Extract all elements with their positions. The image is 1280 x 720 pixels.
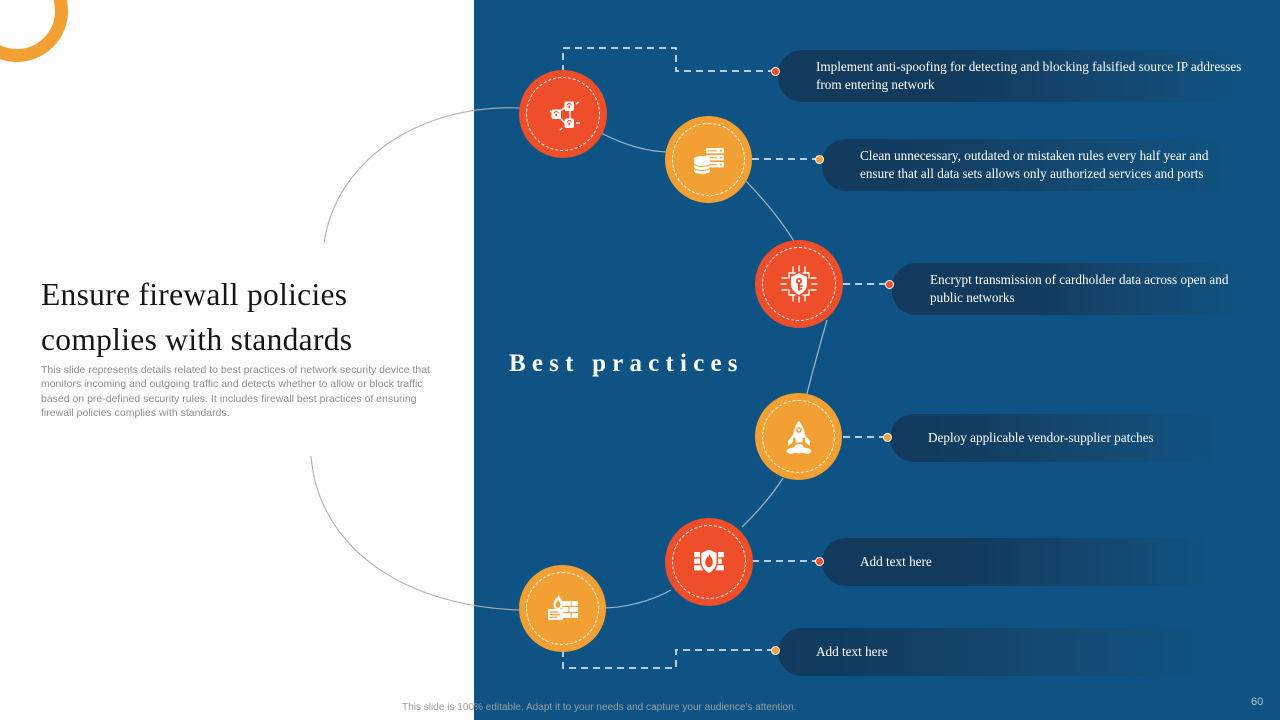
- slide-canvas: Ensure firewall policies complies with s…: [0, 0, 1280, 720]
- diagram-heading: Best practices: [509, 350, 744, 378]
- firewall-shield-flame-icon: [685, 538, 733, 586]
- callout-5[interactable]: Add text here: [822, 538, 1234, 586]
- node-1[interactable]: [519, 70, 607, 158]
- callout-4-text: Deploy applicable vendor-supplier patche…: [928, 429, 1154, 447]
- callout-2-text: Clean unnecessary, outdated or mistaken …: [860, 147, 1246, 183]
- node-5[interactable]: [665, 518, 753, 606]
- page-title-line2: complies with standards: [41, 322, 352, 357]
- callout-3-dot: [885, 280, 894, 289]
- page-description: This slide represents details related to…: [41, 364, 446, 422]
- callout-2[interactable]: Clean unnecessary, outdated or mistaken …: [822, 139, 1262, 191]
- encryption-key-chip-icon: [775, 260, 823, 308]
- callout-3-text: Encrypt transmission of cardholder data …: [930, 271, 1244, 307]
- rocket-launch-icon: [776, 414, 822, 460]
- footer-note: This slide is 100% editable. Adapt it to…: [402, 702, 797, 713]
- callout-1[interactable]: Implement anti-spoofing for detecting an…: [778, 50, 1270, 102]
- node-6[interactable]: [519, 565, 606, 652]
- callout-4-dot: [883, 433, 892, 442]
- decorative-ring-icon: [0, 0, 68, 62]
- database-stack-icon: [686, 137, 732, 183]
- network-lock-nodes-icon: [540, 91, 586, 137]
- callout-2-dot: [815, 155, 824, 164]
- node-3[interactable]: [755, 240, 843, 328]
- firewall-flame-wall-icon: [539, 585, 587, 633]
- callout-6-dot: [771, 646, 780, 655]
- node-2[interactable]: [665, 116, 752, 203]
- callout-5-text: Add text here: [860, 553, 932, 571]
- page-title-line1: Ensure firewall policies: [41, 277, 347, 312]
- callout-3[interactable]: Encrypt transmission of cardholder data …: [892, 263, 1260, 315]
- callout-6-text: Add text here: [816, 643, 888, 661]
- callout-5-dot: [815, 557, 824, 566]
- callout-4[interactable]: Deploy applicable vendor-supplier patche…: [890, 414, 1245, 462]
- callout-6[interactable]: Add text here: [778, 628, 1233, 676]
- callout-1-dot: [771, 67, 780, 76]
- left-panel: Ensure firewall policies complies with s…: [0, 0, 474, 720]
- page-number: 60: [1251, 696, 1263, 708]
- page-title: Ensure firewall policies complies with s…: [41, 272, 451, 362]
- node-4[interactable]: [755, 393, 842, 480]
- callout-1-text: Implement anti-spoofing for detecting an…: [816, 58, 1254, 94]
